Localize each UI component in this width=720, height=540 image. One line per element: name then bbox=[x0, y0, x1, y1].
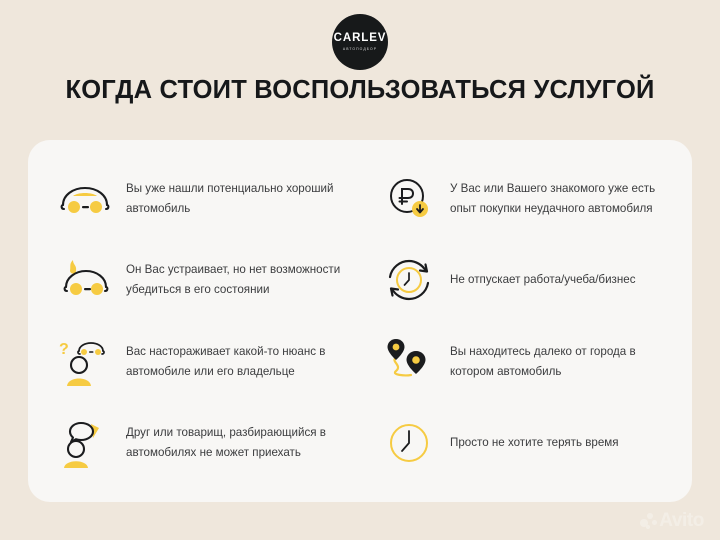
list-item: Вы находитесь далеко от города в котором… bbox=[378, 321, 666, 403]
list-item: Он Вас устраивает, но нет возможности уб… bbox=[54, 240, 342, 322]
list-item-text: У Вас или Вашего знакомого уже есть опыт… bbox=[440, 179, 666, 219]
list-item: Просто не хотите терять время bbox=[378, 403, 666, 485]
ruble-coin-down-arrow-icon bbox=[378, 170, 440, 228]
logo-badge: CARLEV АВТОПОДБОР bbox=[332, 14, 388, 70]
avito-watermark: Avito bbox=[640, 510, 704, 532]
avito-watermark-label: Avito bbox=[659, 510, 704, 532]
car-icon bbox=[54, 170, 116, 228]
list-item: Друг или товарищ, разбирающийся в автомо… bbox=[54, 403, 342, 485]
logo-name: CARLEV bbox=[334, 33, 387, 45]
right-column: У Вас или Вашего знакомого уже есть опыт… bbox=[348, 158, 666, 484]
person-question-car-icon: ? bbox=[54, 333, 116, 391]
avito-logo-icon bbox=[640, 513, 657, 530]
person-speech-bubble-icon bbox=[54, 414, 116, 472]
list-item: У Вас или Вашего знакомого уже есть опыт… bbox=[378, 158, 666, 240]
reasons-card: Вы уже нашли потенциально хороший автомо… bbox=[28, 140, 692, 502]
list-item-text: Друг или товарищ, разбирающийся в автомо… bbox=[116, 423, 341, 463]
list-item: Не отпускает работа/учеба/бизнес bbox=[378, 240, 666, 322]
list-item-text: Он Вас устраивает, но нет возможности уб… bbox=[116, 260, 341, 300]
svg-text:?: ? bbox=[59, 341, 69, 358]
car-flame-icon bbox=[54, 251, 116, 309]
left-column: Вы уже нашли потенциально хороший автомо… bbox=[54, 158, 348, 484]
logo: CARLEV АВТОПОДБОР bbox=[0, 14, 720, 70]
list-item-text: Просто не хотите терять время bbox=[440, 433, 619, 453]
clock-icon bbox=[378, 414, 440, 472]
logo-tagline: АВТОПОДБОР bbox=[343, 48, 377, 51]
page-title: КОГДА СТОИТ ВОСПОЛЬЗОВАТЬСЯ УСЛУГОЙ bbox=[0, 76, 720, 105]
list-item-text: Не отпускает работа/учеба/бизнес bbox=[440, 270, 636, 290]
map-route-pins-icon bbox=[378, 333, 440, 391]
list-item: ? Вас настораживает какой-то нюанс в авт… bbox=[54, 321, 342, 403]
list-item-text: Вас настораживает какой-то нюанс в автом… bbox=[116, 342, 341, 382]
list-item-text: Вы находитесь далеко от города в котором… bbox=[440, 342, 666, 382]
list-item: Вы уже нашли потенциально хороший автомо… bbox=[54, 158, 342, 240]
clock-refresh-icon bbox=[378, 251, 440, 309]
list-item-text: Вы уже нашли потенциально хороший автомо… bbox=[116, 179, 341, 219]
